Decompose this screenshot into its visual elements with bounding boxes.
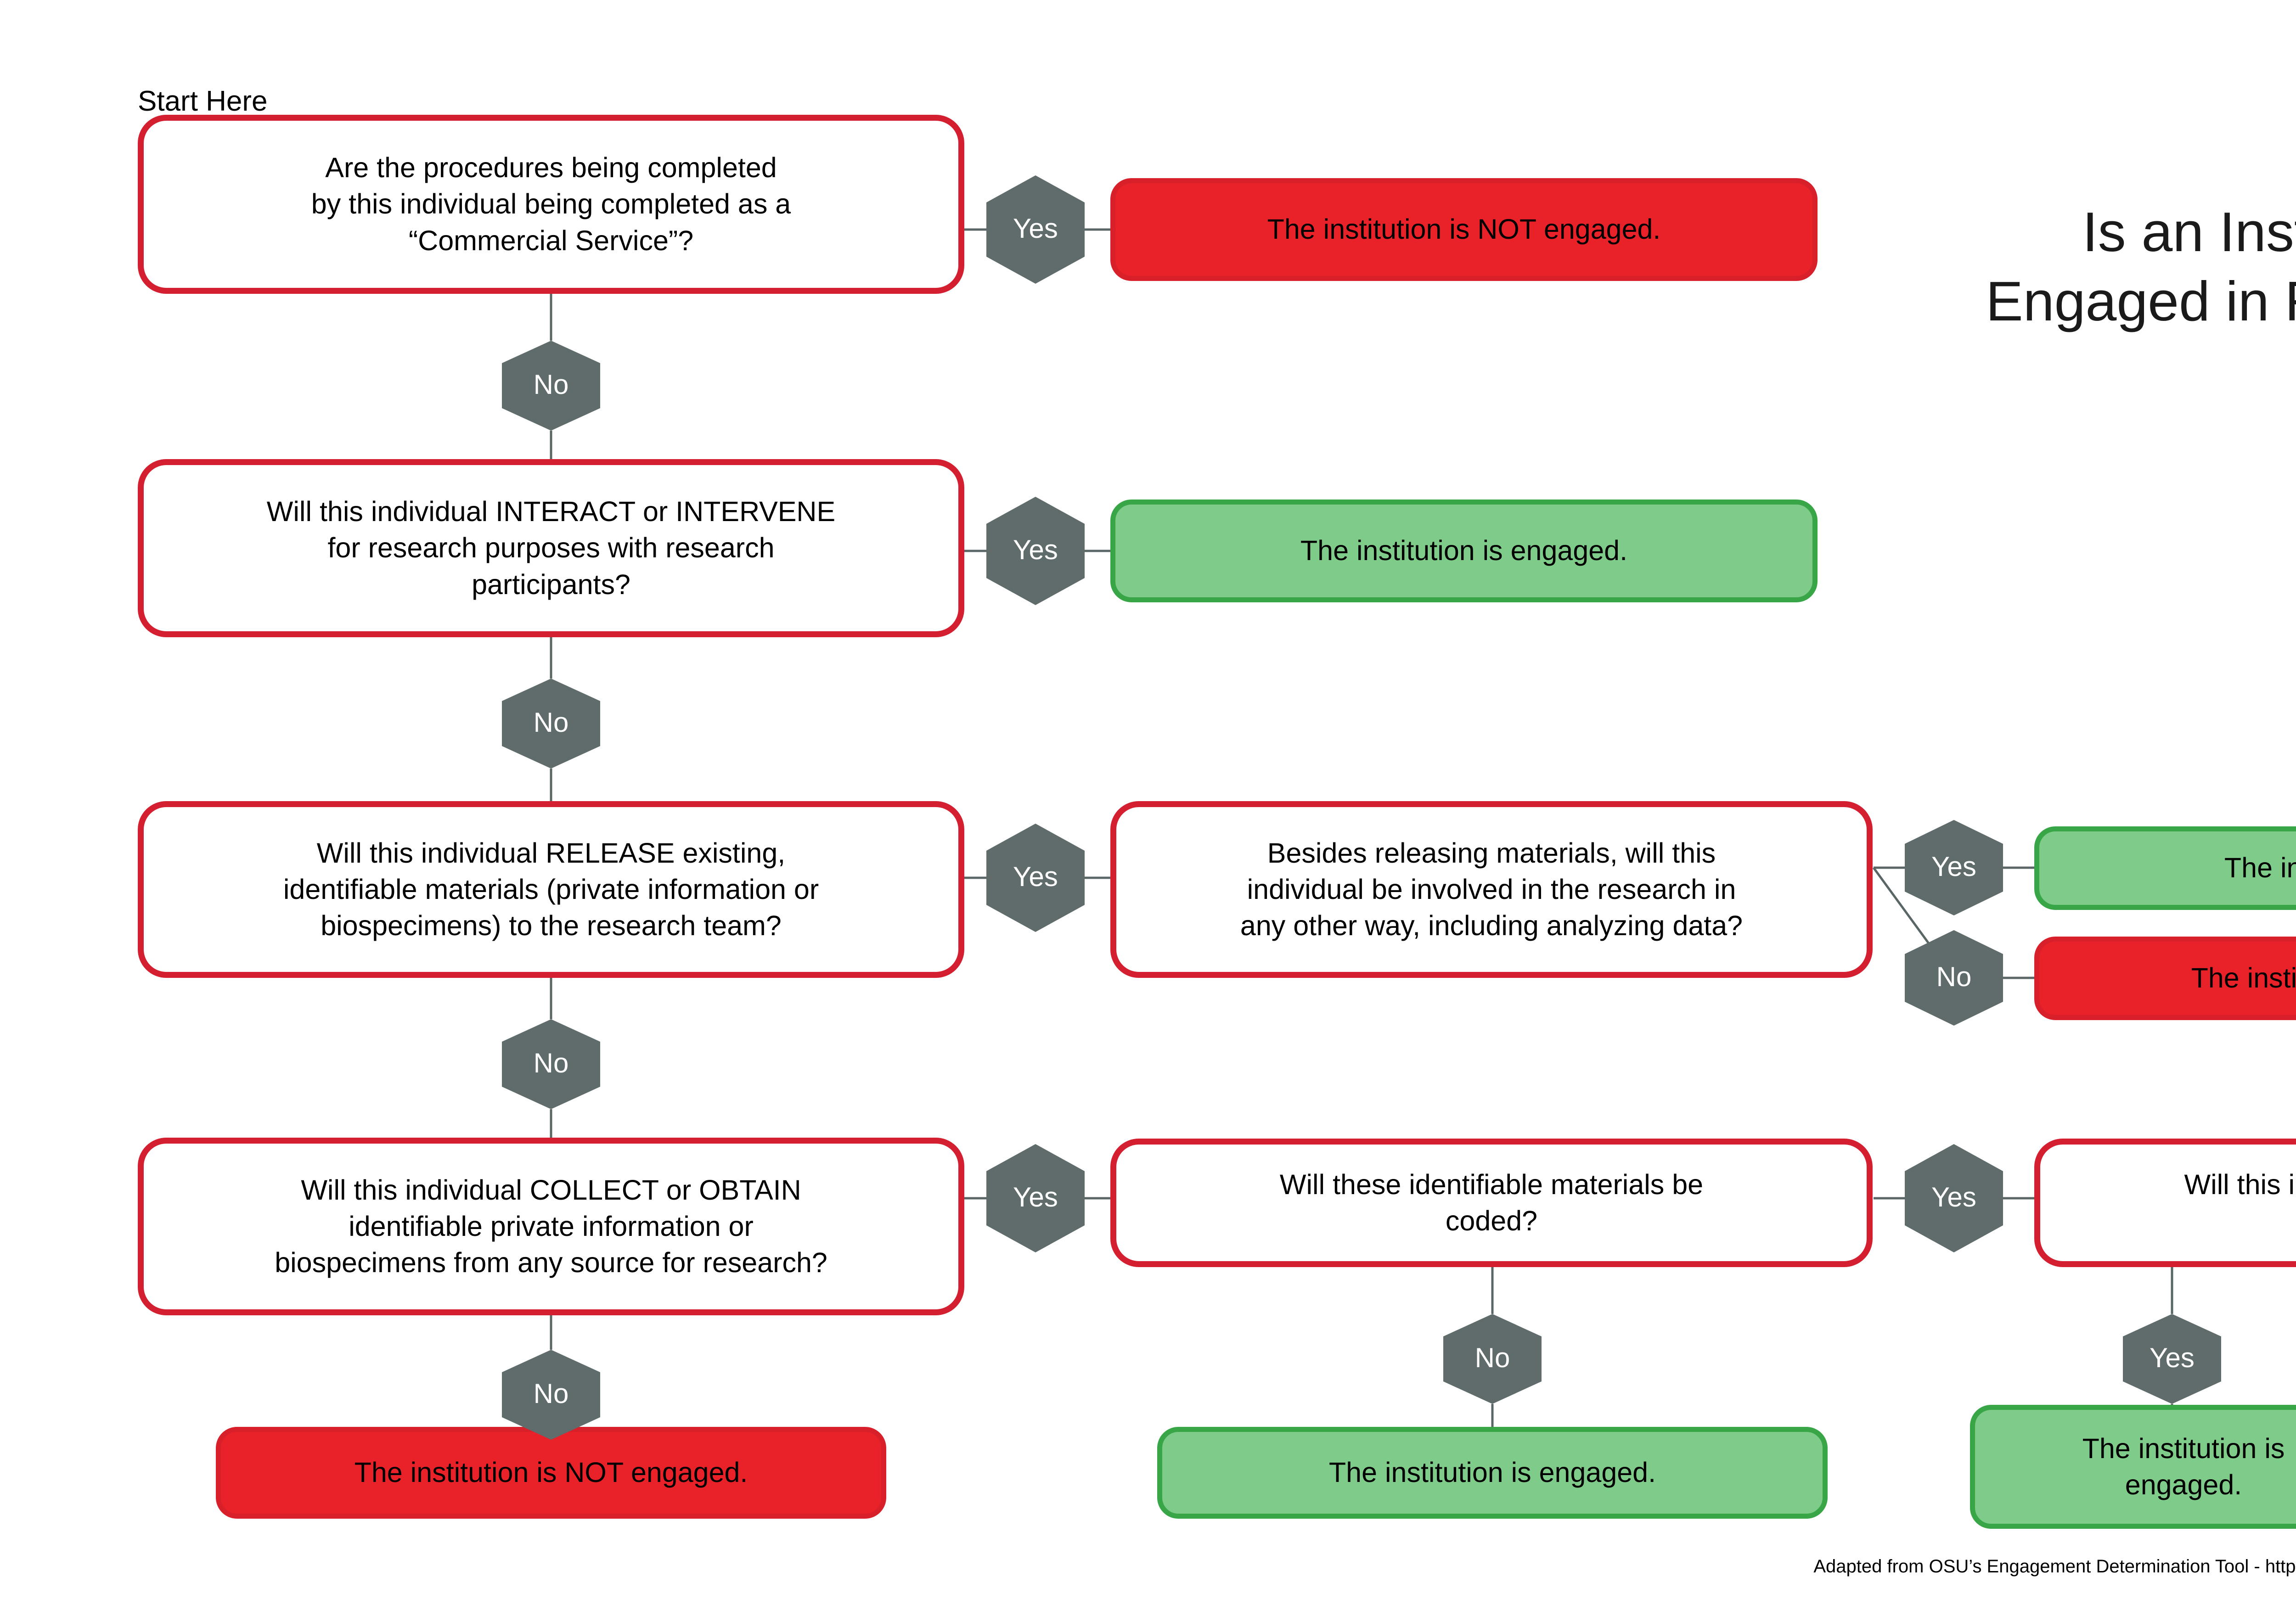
edge-label-q3b-yes[interactable]: Yes xyxy=(1905,820,2003,915)
source-credit: Adapted from OSU’s Engagement Determinat… xyxy=(0,1556,2296,1577)
edge-label-q4-no[interactable]: No xyxy=(502,1350,600,1440)
edge-label-q4b-yes-text: Yes xyxy=(1931,1184,1976,1211)
flowchart-canvas: Is an Institution Engaged in Research? R… xyxy=(0,0,2296,1605)
edge-label-q4c-yes[interactable]: Yes xyxy=(2123,1314,2221,1404)
outcome-r4b-engaged[interactable]: The institution is engaged. xyxy=(1157,1427,1828,1519)
edge-label-q2-no[interactable]: No xyxy=(502,679,600,769)
outcome-r3-not-engaged[interactable]: The institution is NOT engaged. xyxy=(2034,937,2296,1020)
outcome-r2-engaged[interactable]: The institution is engaged. xyxy=(1110,499,1818,602)
edge-label-q4b-no[interactable]: No xyxy=(1443,1314,1542,1404)
edge-label-q2-no-text: No xyxy=(534,709,569,736)
edge-label-q4-yes-text: Yes xyxy=(1013,1184,1058,1211)
question-interact-intervene[interactable]: Will this individual INTERACT or INTERVE… xyxy=(138,459,964,637)
edge-label-q1-no[interactable]: No xyxy=(502,341,600,431)
question-release-materials[interactable]: Will this individual RELEASE existing, i… xyxy=(138,801,964,978)
edge-label-q2-yes[interactable]: Yes xyxy=(986,497,1085,605)
question-involved-other-way-text: Besides releasing materials, will this i… xyxy=(1116,835,1867,944)
edge-label-q3b-no-text: No xyxy=(1936,963,1972,991)
edge-label-q4-no-text: No xyxy=(534,1380,569,1408)
outcome-r3-not-engaged-text: The institution is NOT engaged. xyxy=(2039,960,2296,996)
question-commercial-service-text: Are the procedures being completed by th… xyxy=(144,150,958,259)
outcome-r4c-engaged[interactable]: The institution is engaged. xyxy=(1970,1405,2296,1529)
start-here-label: Start Here xyxy=(138,85,268,118)
edge-label-q3-yes[interactable]: Yes xyxy=(986,824,1085,932)
outcome-r3-engaged-text: The institution is engaged. xyxy=(2039,850,2296,886)
question-code-key-access[interactable]: Will this individual have access to the … xyxy=(2034,1139,2296,1267)
edge-label-q1-yes[interactable]: Yes xyxy=(986,175,1085,284)
outcome-r4-not-engaged[interactable]: The institution is NOT engaged. xyxy=(216,1427,886,1519)
edge-label-q3-yes-text: Yes xyxy=(1013,863,1058,891)
outcome-r1-not-engaged-text: The institution is NOT engaged. xyxy=(1115,211,1812,247)
question-collect-obtain[interactable]: Will this individual COLLECT or OBTAIN i… xyxy=(138,1138,964,1315)
edge-label-q3-no-text: No xyxy=(534,1049,569,1077)
edge-label-q1-yes-text: Yes xyxy=(1013,215,1058,242)
question-materials-coded[interactable]: Will these identifiable materials be cod… xyxy=(1110,1139,1873,1267)
outcome-r3-engaged[interactable]: The institution is engaged. xyxy=(2034,826,2296,910)
edge-label-q4b-no-text: No xyxy=(1475,1344,1510,1372)
question-materials-coded-text: Will these identifiable materials be cod… xyxy=(1116,1167,1867,1240)
outcome-r4b-engaged-text: The institution is engaged. xyxy=(1162,1454,1823,1491)
question-collect-obtain-text: Will this individual COLLECT or OBTAIN i… xyxy=(144,1172,958,1281)
edge-label-q4b-yes[interactable]: Yes xyxy=(1905,1144,2003,1252)
question-release-materials-text: Will this individual RELEASE existing, i… xyxy=(144,835,958,944)
outcome-r1-not-engaged[interactable]: The institution is NOT engaged. xyxy=(1110,178,1818,281)
outcome-r4-not-engaged-text: The institution is NOT engaged. xyxy=(221,1454,881,1491)
edge-label-q3-no[interactable]: No xyxy=(502,1019,600,1109)
question-commercial-service[interactable]: Are the procedures being completed by th… xyxy=(138,115,964,294)
edge-label-q1-no-text: No xyxy=(534,371,569,398)
question-interact-intervene-text: Will this individual INTERACT or INTERVE… xyxy=(144,494,958,603)
edge-label-q3b-no[interactable]: No xyxy=(1905,930,2003,1026)
edge-label-q4c-yes-text: Yes xyxy=(2150,1344,2195,1372)
edge-label-q3b-yes-text: Yes xyxy=(1931,853,1976,881)
edge-label-q4-yes[interactable]: Yes xyxy=(986,1144,1085,1252)
question-code-key-access-text: Will this individual have access to the … xyxy=(2040,1167,2296,1240)
outcome-r4c-engaged-text: The institution is engaged. xyxy=(1975,1431,2296,1504)
edge-label-q2-yes-text: Yes xyxy=(1013,536,1058,564)
question-involved-other-way[interactable]: Besides releasing materials, will this i… xyxy=(1110,801,1873,978)
page-title: Is an Institution Engaged in Research? xyxy=(1926,197,2296,337)
outcome-r2-engaged-text: The institution is engaged. xyxy=(1115,533,1812,569)
